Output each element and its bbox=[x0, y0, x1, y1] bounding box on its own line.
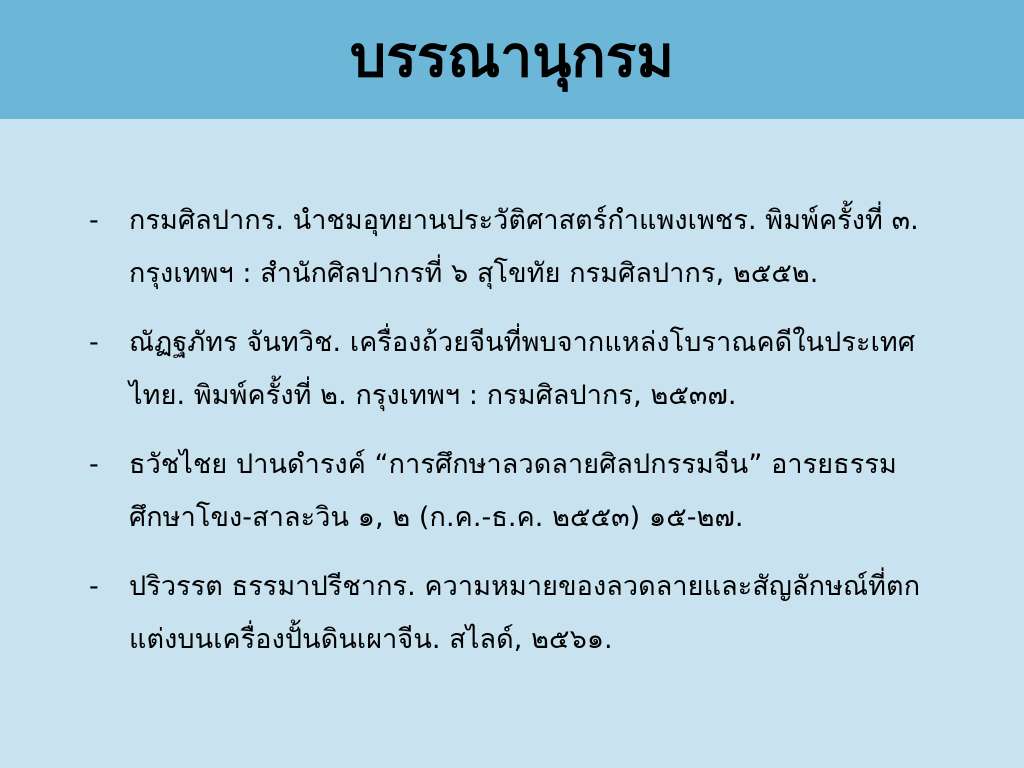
entry-line: แต่งบนเครื่องปั้นดินเผาจีน. สไลด์, ๒๕๖๑. bbox=[129, 613, 946, 666]
presentation-slide: บรรณานุกรม - กรมศิลปากร. นำชมอุทยานประวั… bbox=[0, 0, 1024, 768]
bibliography-entry: ณัฏฐภัทร จันทวิช. เครื่องถ้วยจีนที่พบจาก… bbox=[129, 316, 946, 422]
bibliography-entry: ธวัชไชย ปานดำรงค์ “การศึกษาลวดลายศิลปกรร… bbox=[129, 438, 946, 544]
bullet-marker: - bbox=[86, 194, 129, 247]
list-item: - ณัฏฐภัทร จันทวิช. เครื่องถ้วยจีนที่พบจ… bbox=[86, 316, 946, 422]
list-item: - กรมศิลปากร. นำชมอุทยานประวัติศาสตร์กำแ… bbox=[86, 194, 946, 300]
page-title: บรรณานุกรม bbox=[350, 29, 674, 90]
entry-line: ณัฏฐภัทร จันทวิช. เครื่องถ้วยจีนที่พบจาก… bbox=[129, 316, 946, 369]
slide-title-band: บรรณานุกรม bbox=[0, 0, 1024, 119]
entry-line: กรมศิลปากร. นำชมอุทยานประวัติศาสตร์กำแพง… bbox=[129, 194, 946, 247]
bullet-marker: - bbox=[86, 560, 129, 613]
list-item: - ปริวรรต ธรรมาปรีชากร. ความหมายของลวดลา… bbox=[86, 560, 946, 666]
entry-line: ศึกษาโขง-สาละวิน ๑, ๒ (ก.ค.-ธ.ค. ๒๕๕๓) ๑… bbox=[129, 491, 946, 544]
bullet-marker: - bbox=[86, 438, 129, 491]
entry-line: กรุงเทพฯ : สำนักศิลปากรที่ ๖ สุโขทัย กรม… bbox=[129, 247, 946, 300]
list-item: - ธวัชไชย ปานดำรงค์ “การศึกษาลวดลายศิลปก… bbox=[86, 438, 946, 544]
bullet-marker: - bbox=[86, 316, 129, 369]
slide-body: - กรมศิลปากร. นำชมอุทยานประวัติศาสตร์กำแ… bbox=[0, 119, 1024, 768]
entry-line: ไทย. พิมพ์ครั้งที่ ๒. กรุงเทพฯ : กรมศิลป… bbox=[129, 369, 946, 422]
entry-line: ปริวรรต ธรรมาปรีชากร. ความหมายของลวดลายแ… bbox=[129, 560, 946, 613]
bibliography-entry: ปริวรรต ธรรมาปรีชากร. ความหมายของลวดลายแ… bbox=[129, 560, 946, 666]
entry-line: ธวัชไชย ปานดำรงค์ “การศึกษาลวดลายศิลปกรร… bbox=[129, 438, 946, 491]
bibliography-entry: กรมศิลปากร. นำชมอุทยานประวัติศาสตร์กำแพง… bbox=[129, 194, 946, 300]
bibliography-list: - กรมศิลปากร. นำชมอุทยานประวัติศาสตร์กำแ… bbox=[86, 194, 946, 682]
